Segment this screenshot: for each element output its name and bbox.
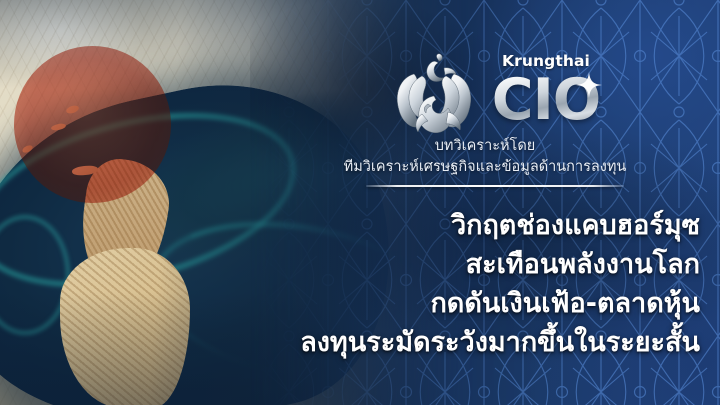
horizontal-divider: [366, 185, 624, 187]
subtitle-line-2: ทีมวิเคราะห์เศรษฐกิจและข้อมูลด้านการลงทุ…: [330, 157, 640, 178]
brand-cio-wrap: CIO: [484, 69, 608, 131]
headline-line-1: วิกฤตช่องแคบฮอร์มุซ: [220, 206, 700, 245]
brand-logo-lockup: Krungthai CIO: [392, 50, 607, 142]
subtitle-line-1: บทวิเคราะห์โดย: [330, 136, 640, 157]
headline-line-2: สะเทือนพลังงานโลก: [220, 245, 700, 284]
sparkle-icon: [576, 72, 602, 98]
garuda-bird-emblem-icon: [392, 52, 476, 138]
headline-line-4: ลงทุนระมัดระวังมากขึ้นในระยะสั้น: [220, 323, 700, 362]
headline-block: วิกฤตช่องแคบฮอร์มุซ สะเทือนพลังงานโลก กด…: [220, 206, 700, 362]
promotional-banner: Krungthai CIO บทวิเคราะห์โดย ทีมวิเคราะห…: [0, 0, 720, 405]
brand-text-block: Krungthai CIO: [484, 54, 608, 131]
headline-line-3: กดดันเงินเฟ้อ-ตลาดหุ้น: [220, 284, 700, 323]
subtitle-block: บทวิเคราะห์โดย ทีมวิเคราะห์เศรษฐกิจและข้…: [330, 136, 640, 178]
